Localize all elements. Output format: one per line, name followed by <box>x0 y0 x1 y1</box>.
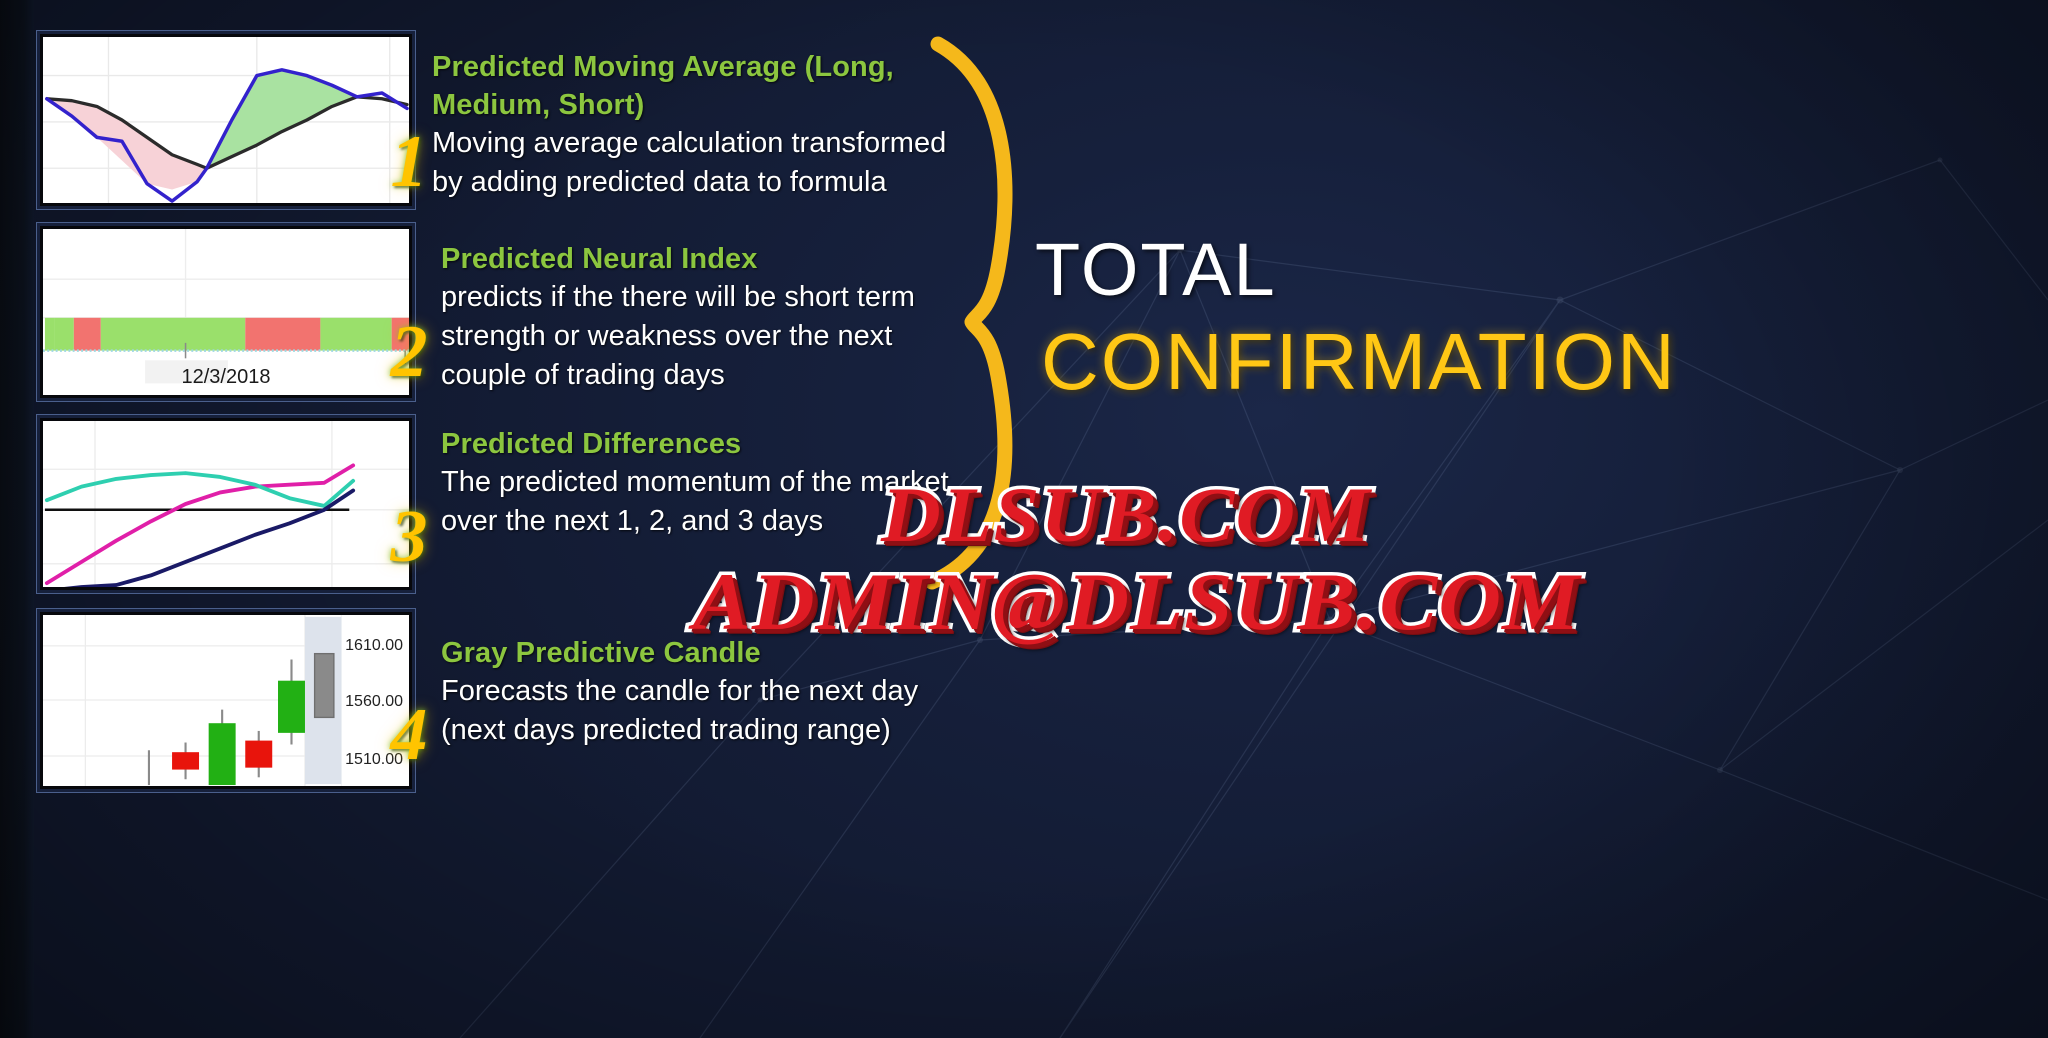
background-left-band <box>0 0 34 1038</box>
neural-index-date-label: 12/3/2018 <box>43 366 409 389</box>
moving-average-chart-svg <box>43 37 409 203</box>
total-confirmation-callout: TOTAL CONFIRMATION <box>1035 230 2035 406</box>
chart-panel-column: 12/3/2018 <box>34 0 420 1038</box>
chart-panel-predicted-differences[interactable] <box>36 414 416 594</box>
chart-canvas-gray-predictive-candle: 1610.00 1560.00 1510.00 <box>40 612 412 789</box>
callout-line-confirmation: CONFIRMATION <box>1041 318 2035 406</box>
feature-4-body: Forecasts the candle for the next day (n… <box>432 672 972 750</box>
candle-6-predicted <box>315 654 334 718</box>
watermark-email: ADMIN@DLSUB.COM <box>693 555 1581 649</box>
predicted-differences-chart-svg <box>43 421 409 587</box>
neural-index-bars <box>45 318 409 351</box>
chart-panel-neural-index[interactable]: 12/3/2018 <box>36 222 416 402</box>
chart-canvas-moving-average <box>40 34 412 206</box>
chart-panel-gray-predictive-candle[interactable]: 1610.00 1560.00 1510.00 <box>36 608 416 793</box>
callout-line-total: TOTAL <box>1035 230 2035 310</box>
chart-canvas-predicted-differences <box>40 418 412 590</box>
chart-canvas-neural-index: 12/3/2018 <box>40 226 412 398</box>
watermark-site: DLSUB.COM <box>881 470 1371 560</box>
feature-block-4: Gray Predictive Candle Forecasts the can… <box>432 634 972 750</box>
chart-panel-moving-average[interactable] <box>36 30 416 210</box>
candlestick-chart-svg <box>43 615 409 786</box>
